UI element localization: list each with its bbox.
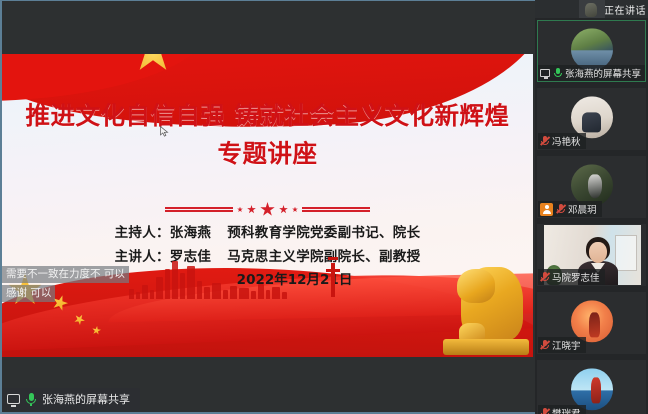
lion-head (457, 269, 495, 303)
host-badge-icon (540, 203, 553, 216)
mouse-cursor (160, 126, 169, 137)
caption-overlay: 需要不一致在力度不 可以 感谢 可以 (2, 266, 129, 302)
participant-tile[interactable]: 樊瑞君 (537, 360, 646, 414)
tower-silhouette (331, 263, 335, 297)
divider-star-mid-right (279, 205, 288, 214)
mic-muted-icon (540, 408, 549, 414)
divider-bar-left (165, 207, 233, 212)
speaking-indicator: 正在讲话 (535, 0, 648, 18)
participant-name-strip: 张海燕的屏幕共享 (538, 65, 645, 81)
golden-lion-statue (443, 259, 529, 355)
host-title: 预科教育学院党委副书记、院长 (227, 225, 420, 241)
host-label: 主持人：张海燕 (115, 225, 212, 241)
participant-tile[interactable]: 邓晨玥 (537, 156, 646, 218)
divider-star-small-right (292, 207, 298, 213)
mic-on-icon (25, 393, 37, 406)
participant-name: 张海燕的屏幕共享 (565, 66, 641, 80)
caption-line: 感谢 可以 (2, 285, 55, 302)
mic-muted-icon (540, 272, 549, 283)
participant-name: 冯艳秋 (552, 134, 581, 148)
caption-line: 需要不一致在力度不 可以 (2, 266, 129, 283)
participant-name-strip: 樊瑞君 (538, 405, 586, 414)
shared-screen-area[interactable]: 推进文化自信自强 铸就社会主义文化新辉煌 专题讲座 主持人：张海燕预科教育学院党… (0, 0, 535, 414)
mic-on-icon (553, 68, 562, 79)
participant-name-strip: 冯艳秋 (538, 133, 586, 149)
slide-title-line1: 推进文化自信自强 铸就社会主义文化新辉煌 (2, 102, 533, 129)
share-status-label: 张海燕的屏幕共享 (42, 391, 130, 407)
mic-muted-icon (540, 136, 549, 147)
meeting-window: 推进文化自信自强 铸就社会主义文化新辉煌 专题讲座 主持人：张海燕预科教育学院党… (0, 0, 648, 414)
participant-name: 马院罗志佳 (552, 270, 600, 284)
presentation-slide: 推进文化自信自强 铸就社会主义文化新辉煌 专题讲座 主持人：张海燕预科教育学院党… (2, 54, 533, 357)
participant-name: 邓晨玥 (568, 202, 597, 216)
city-skyline-silhouette (129, 259, 437, 299)
divider-star-large (260, 202, 275, 217)
divider-star-mid-left (247, 205, 256, 214)
speaking-label: 正在讲话 (604, 2, 646, 17)
participant-tile[interactable]: 江晓宇 (537, 292, 646, 354)
participant-name: 樊瑞君 (552, 406, 581, 414)
participant-tile[interactable]: 张海燕的屏幕共享 (537, 20, 646, 82)
participant-name-strip: 马院罗志佳 (538, 269, 605, 285)
participant-tile[interactable]: 冯艳秋 (537, 88, 646, 150)
slide-title-line2: 专题讲座 (2, 135, 533, 170)
divider-bar-right (302, 207, 370, 212)
lion-base (443, 339, 529, 355)
participant-tiles: 张海燕的屏幕共享冯艳秋邓晨玥马院罗志佳江晓宇樊瑞君 (535, 20, 648, 414)
divider-star-small-left (237, 207, 243, 213)
speaking-thumbnail (579, 0, 605, 18)
monitor-icon (540, 69, 550, 77)
participant-name-strip: 邓晨玥 (538, 201, 602, 217)
participant-name: 江晓宇 (552, 338, 581, 352)
mic-muted-icon (556, 204, 565, 215)
participant-tile[interactable]: 马院罗志佳 (537, 224, 646, 286)
share-status-bar: 张海燕的屏幕共享 (2, 388, 140, 410)
slide-title-group: 推进文化自信自强 铸就社会主义文化新辉煌 专题讲座 (2, 102, 533, 170)
monitor-icon (7, 394, 20, 404)
participant-rail[interactable]: 正在讲话 张海燕的屏幕共享冯艳秋邓晨玥马院罗志佳江晓宇樊瑞君 (535, 0, 648, 414)
participant-name-strip: 江晓宇 (538, 337, 586, 353)
host-row: 主持人：张海燕预科教育学院党委副书记、院长 (2, 222, 533, 246)
mic-muted-icon (540, 340, 549, 351)
title-divider (2, 202, 533, 217)
